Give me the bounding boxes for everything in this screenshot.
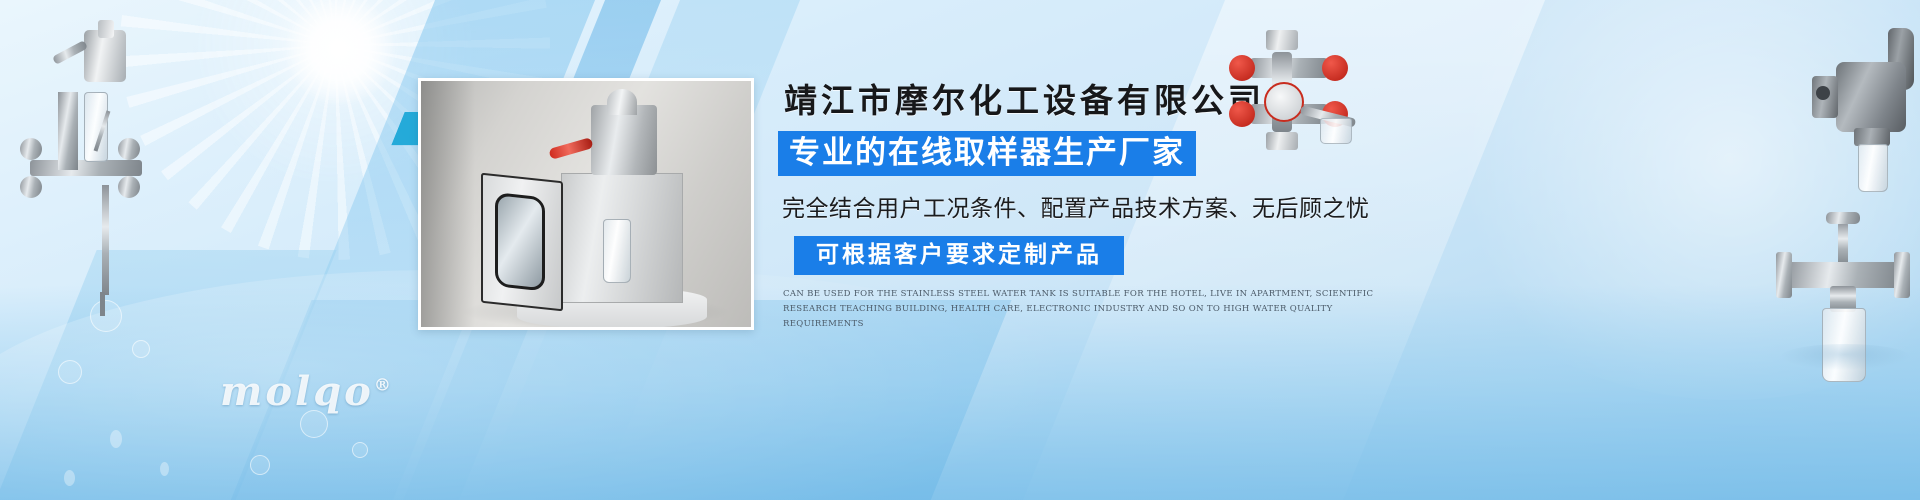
bubble-icon: [250, 455, 270, 475]
bottom-flange: [1266, 132, 1298, 150]
water-drop-icon: [160, 462, 169, 476]
valve-wheel: [20, 138, 42, 160]
tagline-highlight: 专业的在线取样器生产厂家: [778, 131, 1196, 176]
promotional-banner: 靖江市摩尔化工设备有限公司 专业的在线取样器生产厂家 完全结合用户工况条件、配置…: [0, 0, 1920, 500]
subline-text: 完全结合用户工况条件、配置产品技术方案、无后顾之忧: [782, 189, 1398, 223]
brand-watermark: molqo®: [220, 368, 394, 415]
valve-body: [1836, 62, 1906, 132]
english-description: CAN BE USED FOR THE STAINLESS STEEL WATE…: [783, 287, 1383, 332]
photo-valve-top: [607, 89, 637, 115]
valve-wheel: [20, 176, 42, 198]
red-handwheel: [1322, 55, 1348, 81]
bubble-icon: [352, 442, 368, 458]
right-flange: [1894, 252, 1910, 298]
valve-wheel: [118, 176, 140, 198]
product-photo-image: [421, 81, 751, 327]
top-stem: [1838, 222, 1848, 266]
center-product-photo: [418, 78, 754, 330]
valve-manifold-bar: [30, 160, 142, 176]
probe-tip: [100, 292, 105, 316]
registered-mark-icon: ®: [374, 376, 394, 396]
sample-bottle: [1858, 144, 1888, 192]
bubble-icon: [90, 300, 122, 332]
custom-product-badge: 可根据客户要求定制产品: [794, 236, 1124, 275]
actuator-cap: [98, 20, 114, 38]
horizontal-body: [1786, 262, 1900, 288]
bubble-icon: [58, 360, 82, 384]
water-drop-icon: [110, 430, 122, 448]
photo-wall-shadow: [421, 81, 475, 327]
sun-core-icon: [285, 0, 395, 105]
top-cap: [1826, 212, 1860, 224]
support-rod: [102, 185, 109, 295]
left-flange: [1776, 252, 1792, 298]
equipment-shadow: [1780, 344, 1910, 370]
flange-port: [1816, 86, 1830, 100]
red-handwheel: [1229, 101, 1255, 127]
company-seal-logo: [1264, 82, 1304, 122]
photo-cabinet-door: [481, 173, 563, 312]
photo-sample-bottle: [603, 219, 631, 283]
photo-door-window: [495, 192, 545, 291]
water-drop-icon: [64, 470, 75, 486]
photo-valve-head: [591, 105, 657, 175]
vertical-pipe: [58, 92, 78, 170]
photo-red-handle: [548, 137, 593, 160]
connector-arm: [52, 40, 88, 65]
valve-wheel: [118, 138, 140, 160]
bubble-icon: [132, 340, 150, 358]
collection-vessel: [1320, 118, 1352, 144]
watermark-text: molqo: [220, 368, 374, 415]
top-flange: [1266, 30, 1298, 50]
red-handwheel: [1229, 55, 1255, 81]
